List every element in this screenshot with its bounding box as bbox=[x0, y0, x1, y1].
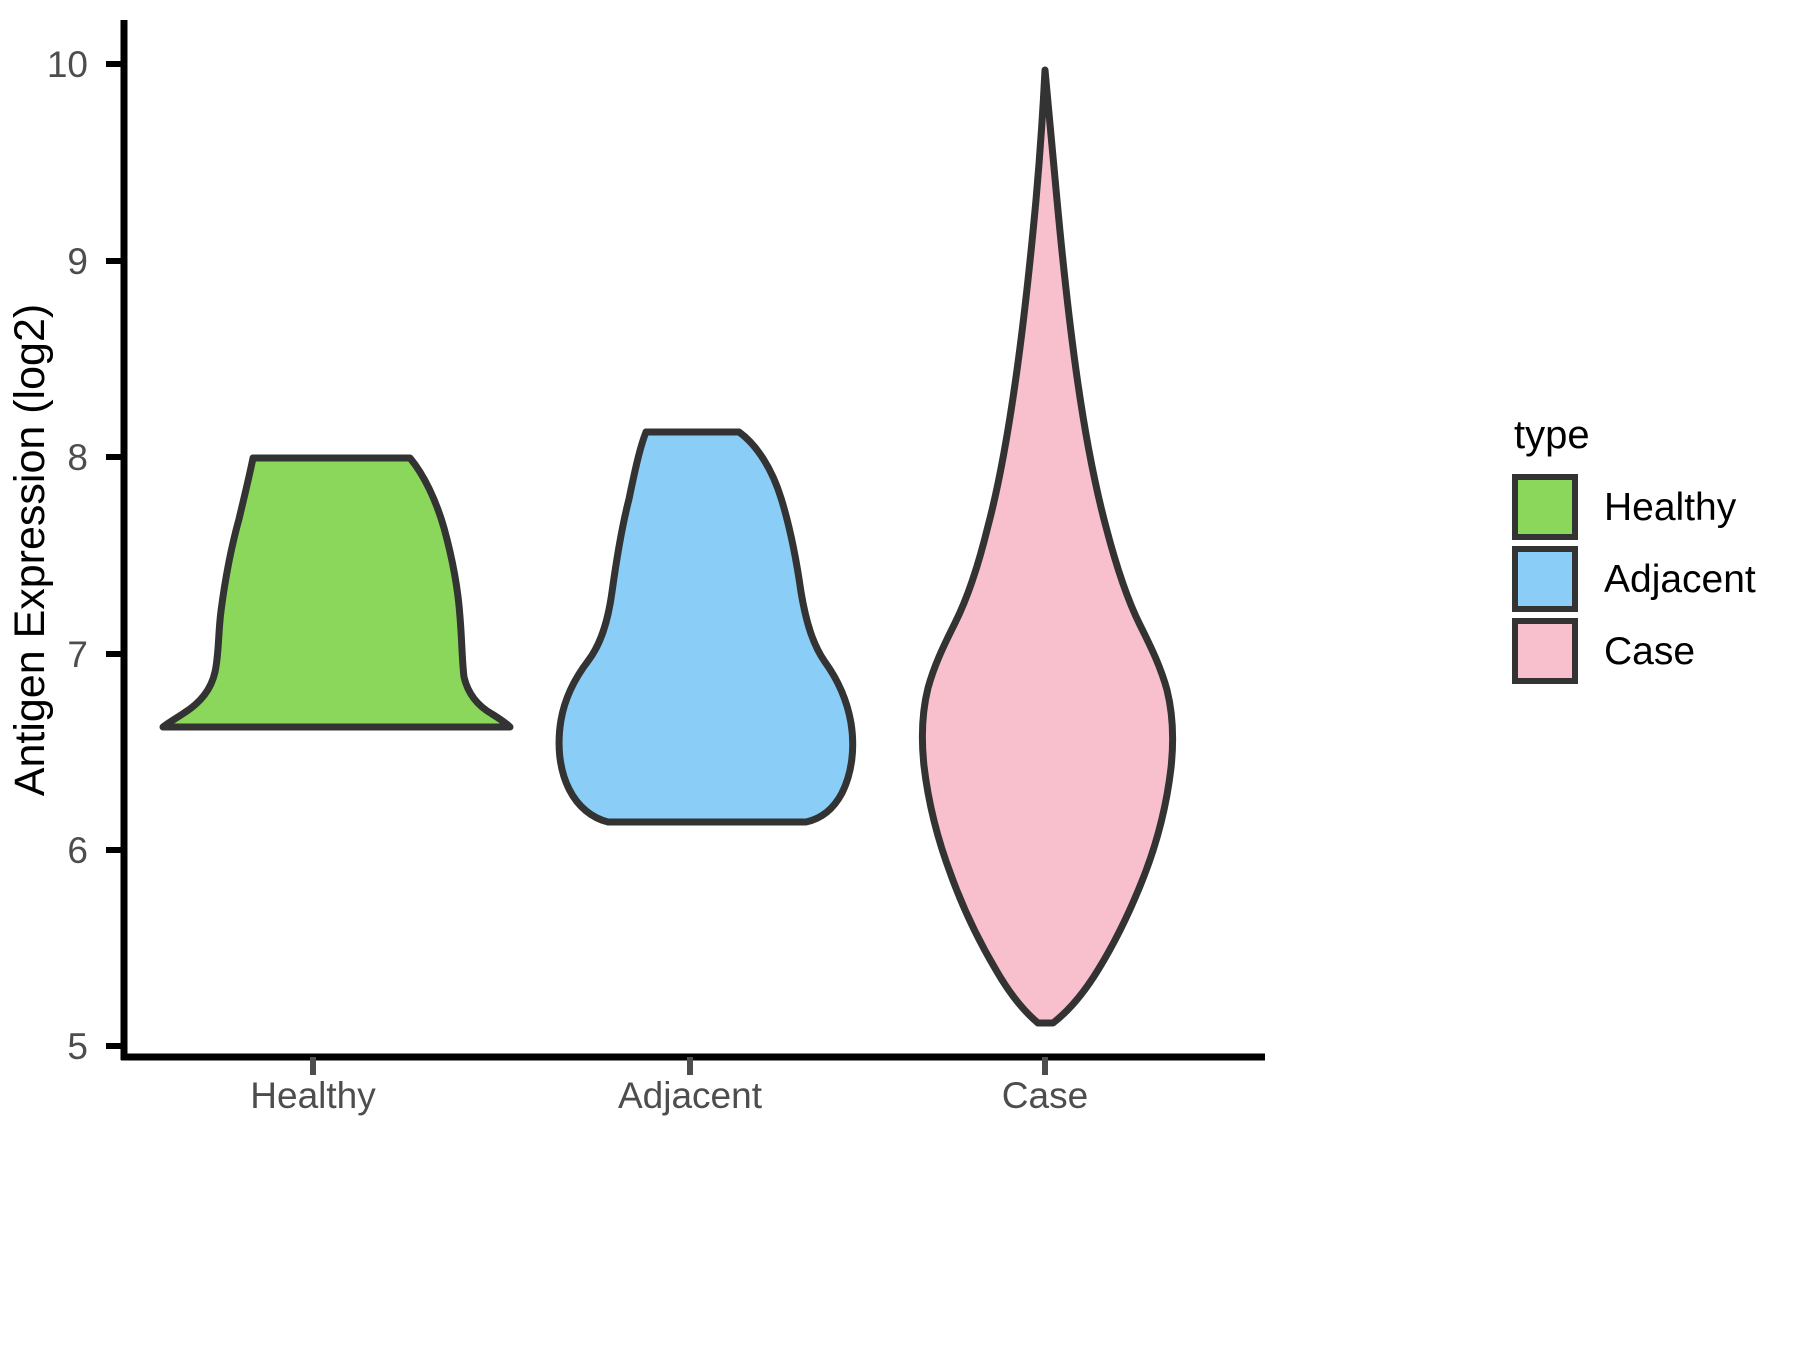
legend-key-case bbox=[1512, 618, 1578, 684]
legend-label-case: Case bbox=[1604, 632, 1695, 671]
legend: type Healthy Adjacent Case bbox=[1512, 415, 1792, 687]
legend-item-case[interactable]: Case bbox=[1512, 615, 1792, 687]
legend-key-healthy bbox=[1512, 474, 1578, 540]
violin-case bbox=[922, 70, 1172, 1023]
legend-title: type bbox=[1514, 415, 1792, 455]
violin-adjacent bbox=[559, 432, 853, 822]
violin-healthy bbox=[163, 458, 510, 727]
legend-label-healthy: Healthy bbox=[1604, 488, 1736, 527]
violin-plot-figure: Antigen Expression (log2) 10 9 8 7 6 5 H… bbox=[0, 0, 1800, 1350]
legend-item-adjacent[interactable]: Adjacent bbox=[1512, 543, 1792, 615]
legend-item-healthy[interactable]: Healthy bbox=[1512, 471, 1792, 543]
legend-label-adjacent: Adjacent bbox=[1604, 560, 1756, 599]
legend-key-adjacent bbox=[1512, 546, 1578, 612]
